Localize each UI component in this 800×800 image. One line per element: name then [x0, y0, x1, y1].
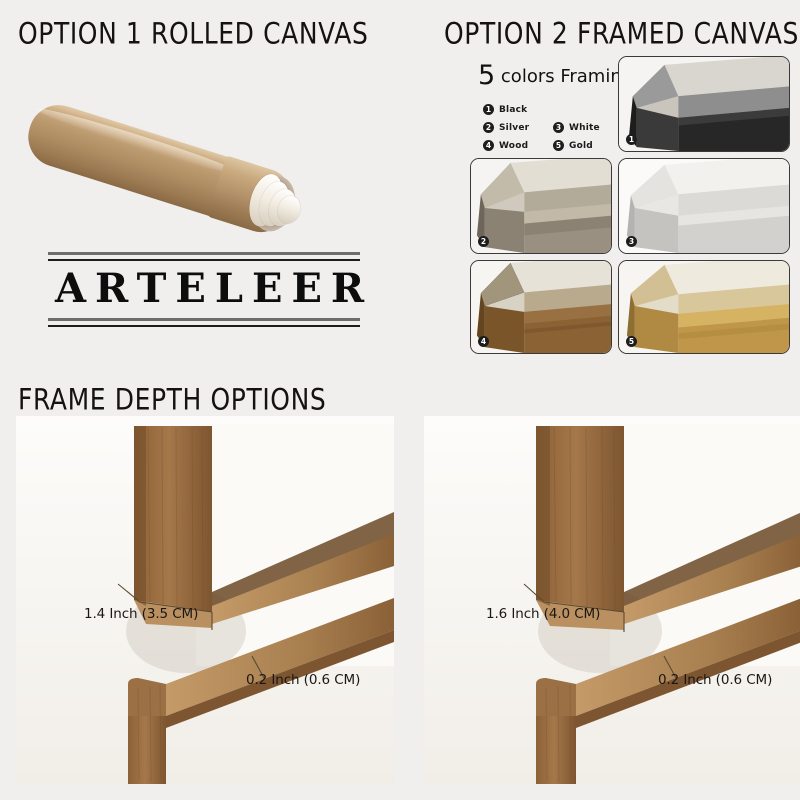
frame-corner-wood-photo	[471, 261, 611, 353]
framing-title-text: colors Framing	[495, 66, 633, 87]
legend-item-gold: 5 Gold	[553, 140, 623, 151]
mailing-tube-icon	[21, 97, 290, 235]
depth-face-label-left: 1.4 Inch (3.5 CM)	[84, 606, 198, 622]
framing-count: 5	[478, 60, 495, 91]
legend-item-silver: 2 Silver	[483, 122, 553, 133]
swatch-badge-4: 4	[478, 336, 489, 347]
swatch-badge-3: 3	[626, 236, 637, 247]
frame-swatch-black[interactable]: 1	[618, 56, 790, 152]
swatch-badge-2: 2	[478, 236, 489, 247]
legend-row: 4 Wood 5 Gold	[483, 140, 623, 151]
frame-swatch-silver[interactable]: 2	[470, 158, 612, 254]
legend-label: Black	[499, 105, 527, 115]
brand-rule-bottom	[48, 318, 360, 327]
swatch-badge-5: 5	[626, 336, 637, 347]
option1-heading: OPTION 1 ROLLED CANVAS	[18, 17, 368, 51]
option2-heading: OPTION 2 FRAMED CANVAS	[444, 17, 799, 51]
brand-wordmark-block: ARTELEER	[48, 252, 360, 327]
depth-photo-left: 1.4 Inch (3.5 CM) 0.2 Inch (0.6 CM)	[16, 416, 394, 784]
legend-row: 2 Silver 3 White	[483, 122, 623, 133]
badge-2-icon: 2	[483, 122, 494, 133]
frame-corner-silver-photo	[471, 159, 611, 253]
legend-item-wood: 4 Wood	[483, 140, 553, 151]
swatch-badge-1: 1	[626, 134, 637, 145]
badge-5-icon: 5	[553, 140, 564, 151]
framing-title: 5 colors Framing	[478, 60, 633, 91]
brand-rule-top	[48, 252, 360, 261]
frame-corner-gold-photo	[619, 261, 789, 353]
legend-row: 1 Black	[483, 104, 623, 115]
rolled-canvas-sheet	[240, 168, 311, 242]
frame-depth-heading: FRAME DEPTH OPTIONS	[18, 383, 326, 417]
depth-illustration-left	[16, 416, 394, 784]
frame-swatch-gold[interactable]: 5	[618, 260, 790, 354]
depth-edge-label-left: 0.2 Inch (0.6 CM)	[246, 672, 360, 688]
rolled-canvas-image	[26, 58, 302, 208]
depth-edge-label-right: 0.2 Inch (0.6 CM)	[658, 672, 772, 688]
depth-photo-right: 1.6 Inch (4.0 CM) 0.2 Inch (0.6 CM)	[424, 416, 800, 784]
framing-legend: 1 Black 2 Silver 3 White 4 Wood 5 Gold	[483, 104, 623, 158]
brand-name: ARTELEER	[48, 261, 360, 318]
frame-corner-white-photo	[619, 159, 789, 253]
legend-item-black: 1 Black	[483, 104, 553, 115]
depth-illustration-right	[424, 416, 800, 784]
framing-options-panel: 5 colors Framing 1 Black 2 Silver 3 Whit…	[470, 56, 790, 354]
badge-3-icon: 3	[553, 122, 564, 133]
frame-swatch-white[interactable]: 3	[618, 158, 790, 254]
tube-body	[21, 97, 244, 220]
badge-1-icon: 1	[483, 104, 494, 115]
depth-face-label-right: 1.6 Inch (4.0 CM)	[486, 606, 600, 622]
legend-label: Silver	[499, 123, 529, 133]
legend-label: Gold	[569, 141, 593, 151]
legend-label: White	[569, 123, 600, 133]
badge-4-icon: 4	[483, 140, 494, 151]
frame-swatch-wood[interactable]: 4	[470, 260, 612, 354]
frame-corner-black-photo	[619, 57, 789, 151]
legend-label: Wood	[499, 141, 528, 151]
legend-item-white: 3 White	[553, 122, 623, 133]
